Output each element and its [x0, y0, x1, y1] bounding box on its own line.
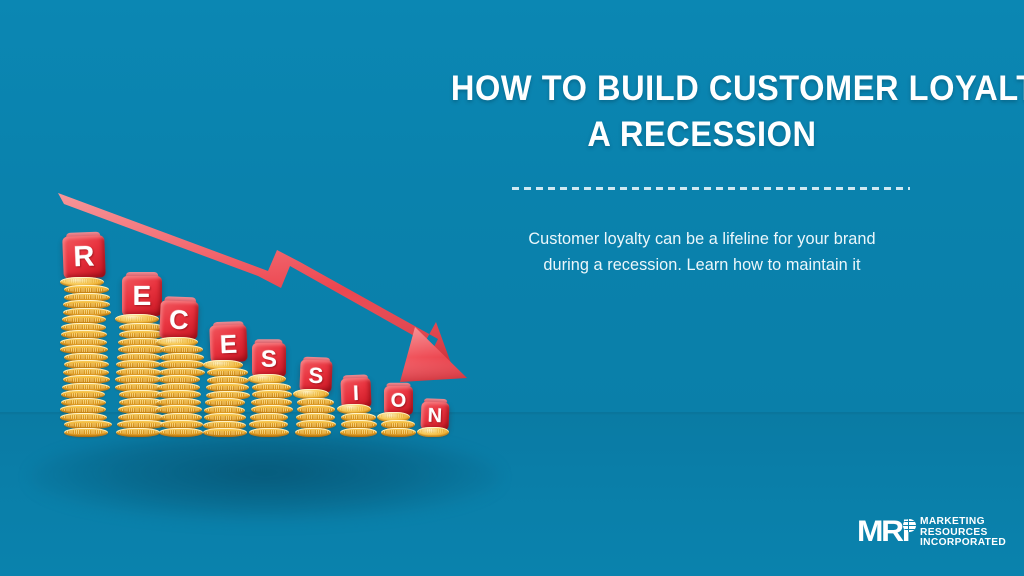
logo-wordmark: Marketing Resources Incorporated: [920, 517, 1006, 549]
brand-logo[interactable]: MRi Marketing Resources Incorporated: [857, 513, 1024, 557]
logo-monogram: MRi: [857, 517, 908, 547]
title-line-1: HOW TO BUILD CUSTOMER LOYALTY IN: [451, 66, 953, 112]
coin: [340, 428, 377, 437]
coin: [64, 428, 108, 437]
coin-stack: N: [419, 425, 453, 437]
globe-icon: [903, 519, 916, 532]
coin: [116, 428, 160, 437]
coin: [295, 428, 331, 437]
coin: [203, 428, 247, 437]
declining-arrow-icon: [0, 0, 500, 420]
logo-word-3: Incorporated: [920, 538, 1006, 549]
logo-word-1: Marketing: [920, 517, 1006, 528]
title-line-2: A RECESSION: [451, 112, 953, 158]
page-title: HOW TO BUILD CUSTOMER LOYALTY IN A RECES…: [451, 66, 953, 158]
subtitle-line-1: Customer loyalty can be a lifeline for y…: [462, 226, 942, 252]
coin: [249, 428, 289, 437]
subtitle-line-2: during a recession. Learn how to maintai…: [462, 252, 942, 278]
coin: [381, 428, 416, 437]
recession-coin-chart-illustration: RECESSION: [0, 0, 500, 520]
subtitle-text: Customer loyalty can be a lifeline for y…: [462, 226, 942, 278]
infographic-canvas: RECESSION: [0, 0, 1024, 576]
coin: [159, 428, 203, 437]
dashed-divider: [512, 187, 910, 190]
coin: [417, 427, 449, 437]
coin-column: [419, 428, 453, 437]
